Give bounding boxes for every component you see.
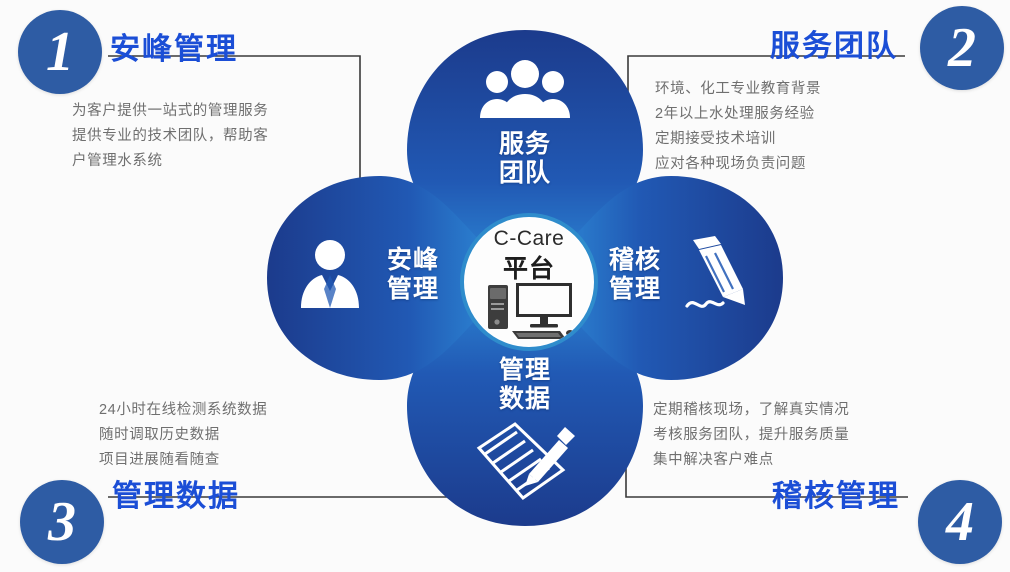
body-line: 户管理水系统 xyxy=(72,149,268,174)
flower-diagram: 服务 团队 安峰 管理 稽核 管理 xyxy=(255,18,795,538)
section-heading-3: 管理数据 xyxy=(112,471,240,515)
body-line: 24小时在线检测系统数据 xyxy=(99,398,267,423)
desktop-computer-icon xyxy=(486,279,574,341)
clipboard-pencil-icon xyxy=(471,418,577,504)
petal-top-line1: 服务 xyxy=(475,130,575,159)
businessperson-icon xyxy=(297,238,363,310)
body-line: 提供专业的技术团队，帮助客 xyxy=(72,124,268,149)
section-heading-1: 安峰管理 xyxy=(110,24,238,68)
petal-left-label: 安峰 管理 xyxy=(365,246,461,304)
hub-title: C-Care xyxy=(464,227,594,251)
step-badge-2: 2 xyxy=(920,6,1004,90)
body-line: 为客户提供一站式的管理服务 xyxy=(72,99,268,124)
petal-bottom-label: 管理 数据 xyxy=(475,356,575,414)
center-hub: C-Care 平台 xyxy=(460,213,598,351)
petal-right-label: 稽核 管理 xyxy=(587,246,683,304)
pencil-icon xyxy=(679,234,751,322)
petal-right-line1: 稽核 xyxy=(587,246,683,275)
petal-bottom-line2: 数据 xyxy=(475,385,575,414)
body-line: 随时调取历史数据 xyxy=(99,423,267,448)
petal-top-label: 服务 团队 xyxy=(475,130,575,188)
section-body-1: 为客户提供一站式的管理服务 提供专业的技术团队，帮助客 户管理水系统 xyxy=(72,99,268,174)
step-badge-1: 1 xyxy=(18,10,102,94)
people-group-icon xyxy=(477,60,573,122)
step-badge-3: 3 xyxy=(20,480,104,564)
infographic-canvas: 1 2 3 4 安峰管理 服务团队 管理数据 稽核管理 为客户提供一站式的管理服… xyxy=(0,0,1010,572)
petal-bottom-line1: 管理 xyxy=(475,356,575,385)
petal-top-line2: 团队 xyxy=(475,159,575,188)
petal-left-line2: 管理 xyxy=(365,275,461,304)
section-body-3: 24小时在线检测系统数据 随时调取历史数据 项目进展随看随查 xyxy=(99,398,267,473)
petal-left-line1: 安峰 xyxy=(365,246,461,275)
body-line: 项目进展随看随查 xyxy=(99,448,267,473)
petal-right-line2: 管理 xyxy=(587,275,683,304)
step-badge-4: 4 xyxy=(918,480,1002,564)
